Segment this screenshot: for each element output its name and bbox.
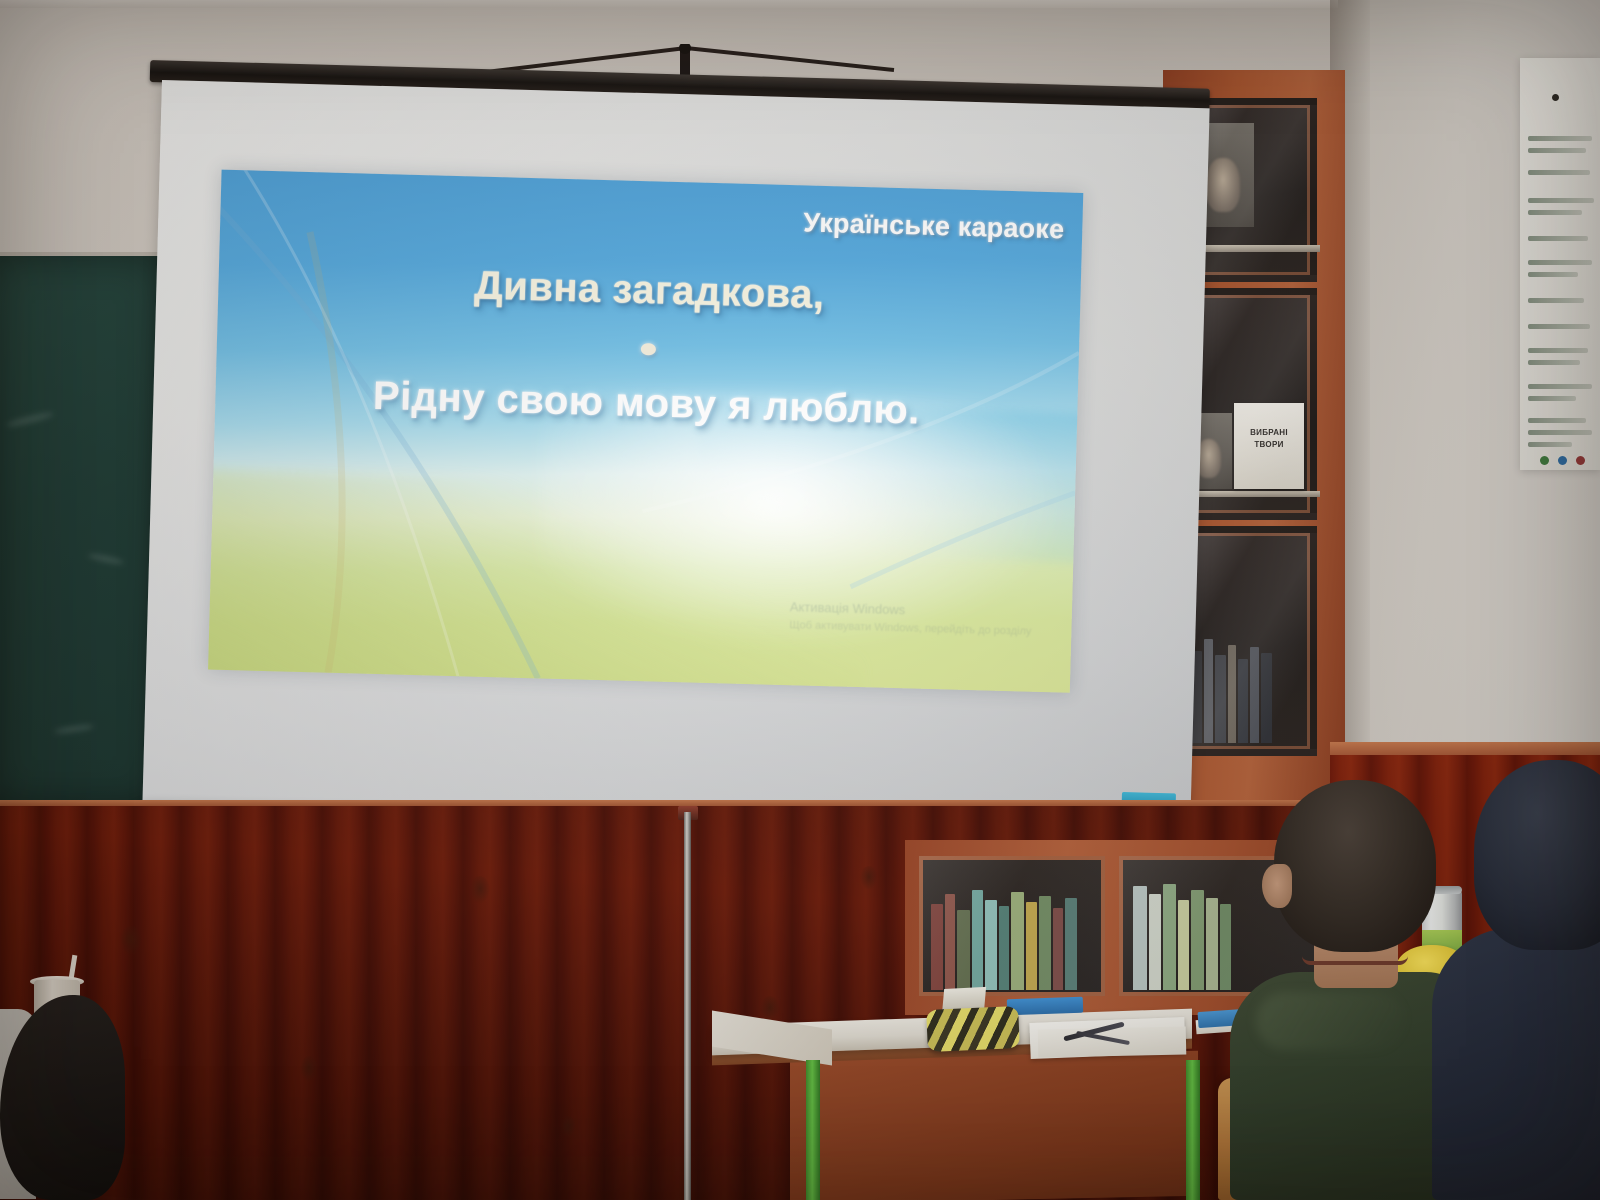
- blue-notebook: [1007, 997, 1084, 1016]
- person-left: [0, 985, 140, 1200]
- projection-screen: Українське караоке Дивна загадкова, Рідн…: [150, 44, 1225, 834]
- tripod-pole: [684, 812, 691, 1200]
- slide-title: Українське караоке: [803, 207, 1065, 245]
- chalkboard: [0, 252, 164, 808]
- worksheet-paper-2: [1038, 1026, 1187, 1057]
- desk-leg-right: [1186, 1060, 1200, 1200]
- bullet-dot-icon: [640, 343, 655, 355]
- poster-bullet-icon: [1552, 94, 1559, 101]
- slide: Українське караоке Дивна загадкова, Рідн…: [208, 170, 1083, 693]
- featured-book: ВИБРАНІ ТВОРИ: [1234, 403, 1304, 489]
- lyrics-block: Дивна загадкова, Рідну свою мову я люблю…: [215, 258, 1081, 438]
- featured-book-title-1: ВИБРАНІ: [1250, 428, 1288, 437]
- activation-watermark: Активація Windows Щоб активувати Windows…: [789, 597, 1032, 640]
- desk-leg-left: [806, 1060, 820, 1200]
- student-navy-shirt: [1438, 760, 1600, 1200]
- desk-apron: [790, 1051, 1198, 1200]
- screen-canvas: Українське караоке Дивна загадкова, Рідн…: [141, 80, 1209, 868]
- classroom-scene: ВИБРАНІ ТВОРИ: [0, 0, 1600, 1200]
- wall-poster: [1520, 58, 1600, 470]
- featured-book-title-2: ТВОРИ: [1254, 440, 1283, 449]
- lyric-line-1: Дивна загадкова,: [218, 258, 1081, 324]
- camo-pencil-case: [926, 1006, 1020, 1052]
- bookcase-lower-door-left[interactable]: [919, 856, 1105, 996]
